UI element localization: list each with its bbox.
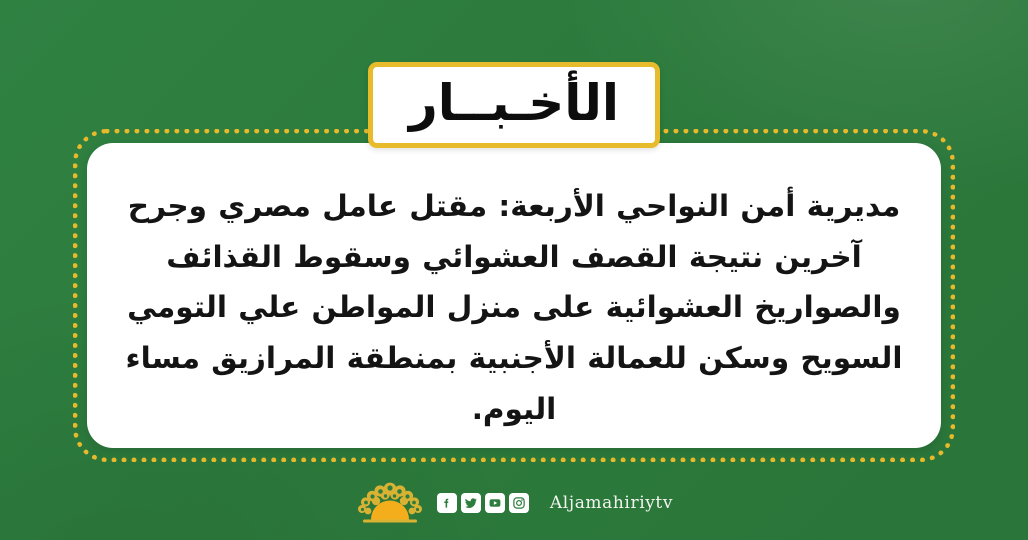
news-body-text: مديرية أمن النواحي الأربعة: مقتل عامل مص…: [113, 181, 915, 435]
news-poster: مديرية أمن النواحي الأربعة: مقتل عامل مص…: [0, 0, 1028, 540]
tree-and-sunrise-logo: [355, 480, 425, 526]
social-links[interactable]: [437, 493, 529, 513]
instagram-icon[interactable]: [509, 493, 529, 513]
facebook-icon[interactable]: [437, 493, 457, 513]
news-card-body: مديرية أمن النواحي الأربعة: مقتل عامل مص…: [113, 181, 915, 422]
footer-bar: Aljamahiriytv: [0, 474, 1028, 532]
page-title: الأخـبــار: [409, 78, 619, 132]
news-card: مديرية أمن النواحي الأربعة: مقتل عامل مص…: [87, 143, 941, 448]
news-card-wrapper: مديرية أمن النواحي الأربعة: مقتل عامل مص…: [73, 129, 955, 462]
channel-handle: Aljamahiriytv: [550, 493, 673, 513]
title-plate: الأخـبــار: [368, 62, 660, 148]
twitter-icon[interactable]: [461, 493, 481, 513]
youtube-icon[interactable]: [485, 493, 505, 513]
